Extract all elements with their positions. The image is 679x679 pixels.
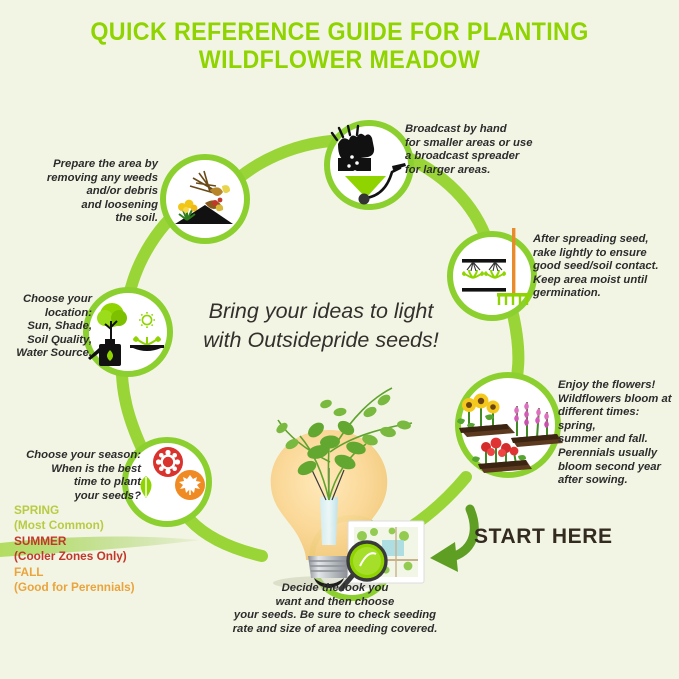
caption-line: location: bbox=[0, 307, 92, 321]
season-summer-label: SUMMER bbox=[14, 534, 189, 549]
caption-prepare-area: Prepare the area by removing any weeds a… bbox=[40, 158, 158, 226]
caption-line: Prepare the area by bbox=[40, 158, 158, 172]
season-fall-label: FALL bbox=[14, 565, 189, 580]
caption-line: Perennials usually bbox=[558, 447, 679, 461]
caption-line: the soil. bbox=[40, 212, 158, 226]
season-legend: SPRING (Most Common) SUMMER (Cooler Zone… bbox=[14, 503, 189, 595]
caption-line: Broadcast by hand bbox=[405, 123, 555, 137]
node-choose-location[interactable] bbox=[86, 290, 170, 374]
season-spring-label: SPRING bbox=[14, 503, 189, 518]
caption-rake-lightly: After spreading seed, rake lightly to en… bbox=[533, 233, 679, 301]
caption-line: Water Source. bbox=[0, 347, 92, 361]
garden-plan-magnifier-icon bbox=[341, 521, 424, 589]
season-fall-note: (Good for Perennials) bbox=[14, 580, 189, 595]
infographic-canvas: QUICK REFERENCE GUIDE FOR PLANTING WILDF… bbox=[0, 0, 679, 679]
caption-line: rate and size of area needing covered. bbox=[185, 623, 485, 637]
caption-decide-look: Decide the look you want and then choose… bbox=[185, 582, 485, 636]
caption-line: different times: spring, bbox=[558, 406, 679, 433]
caption-line: After spreading seed, bbox=[533, 233, 679, 247]
caption-line: Sun, Shade, bbox=[0, 320, 92, 334]
caption-line: Decide the look you bbox=[185, 582, 485, 596]
caption-line: Choose your bbox=[0, 293, 92, 307]
caption-line: good seed/soil contact. bbox=[533, 260, 679, 274]
season-summer-note: (Cooler Zones Only) bbox=[14, 549, 189, 564]
caption-line: rake lightly to ensure bbox=[533, 247, 679, 261]
caption-line: want and then choose bbox=[185, 596, 485, 610]
caption-line: summer and fall. bbox=[558, 433, 679, 447]
caption-line: and/or debris bbox=[40, 185, 158, 199]
caption-enjoy-flowers: Enjoy the flowers! Wildflowers bloom at … bbox=[558, 379, 679, 488]
caption-choose-season: Choose your season: When is the best tim… bbox=[8, 449, 141, 503]
caption-line: bloom second year bbox=[558, 461, 679, 475]
caption-line: Wildflowers bloom at bbox=[558, 393, 679, 407]
caption-broadcast-seed: Broadcast by hand for smaller areas or u… bbox=[405, 123, 555, 177]
season-spring-note: (Most Common) bbox=[14, 518, 189, 533]
caption-choose-location: Choose your location: Sun, Shade, Soil Q… bbox=[0, 293, 92, 361]
caption-line: When is the best bbox=[8, 463, 141, 477]
caption-line: a broadcast spreader bbox=[405, 150, 555, 164]
curved-arrow-left-icon bbox=[430, 509, 474, 572]
caption-line: Enjoy the flowers! bbox=[558, 379, 679, 393]
caption-line: germination. bbox=[533, 287, 679, 301]
caption-line: for smaller areas or use bbox=[405, 137, 555, 151]
caption-line: for larger areas. bbox=[405, 164, 555, 178]
caption-line: and loosening bbox=[40, 199, 158, 213]
caption-line: removing any weeds bbox=[40, 172, 158, 186]
caption-line: Soil Quality, bbox=[0, 334, 92, 348]
caption-line: Keep area moist until bbox=[533, 274, 679, 288]
caption-line: your seeds. Be sure to check seeding bbox=[185, 609, 485, 623]
tagline: Bring your ideas to light with Outsidepr… bbox=[176, 297, 466, 355]
tagline-line1: Bring your ideas to light bbox=[176, 297, 466, 326]
caption-line: your seeds? bbox=[8, 490, 141, 504]
caption-line: after sowing. bbox=[558, 474, 679, 488]
start-here-label: START HERE bbox=[474, 525, 613, 549]
caption-line: time to plant bbox=[8, 476, 141, 490]
caption-line: Choose your season: bbox=[8, 449, 141, 463]
node-prepare-area[interactable] bbox=[163, 157, 247, 241]
tagline-line2: with Outsidepride seeds! bbox=[176, 326, 466, 355]
